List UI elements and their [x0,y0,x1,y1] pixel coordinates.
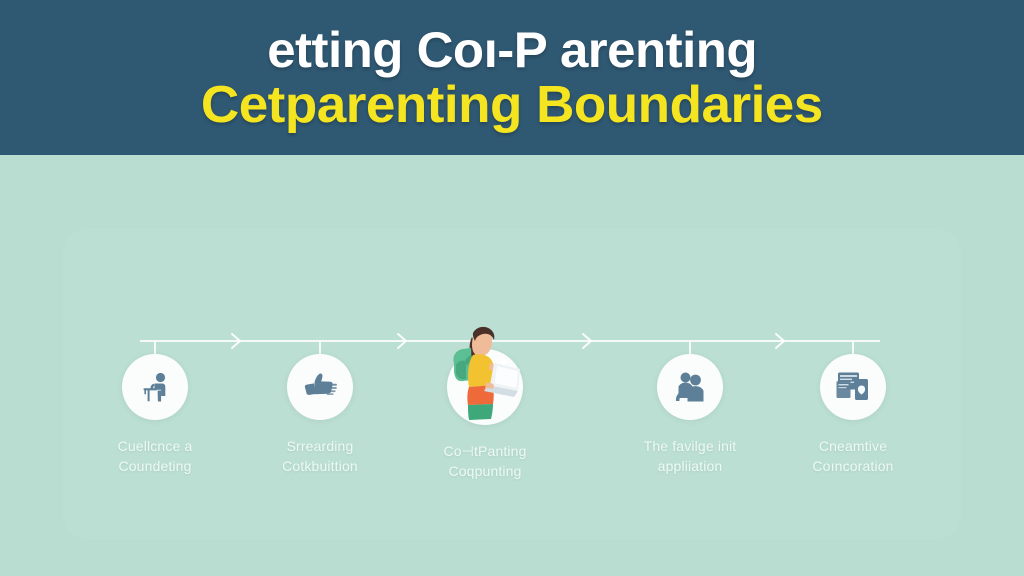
timeline-step-1-label-line-2: Coundeting [67,456,243,476]
timeline-step-3[interactable]: Co⊣tPanting Coqpunting [397,349,573,482]
timeline-step-1-label-line-1: Cuellcnce a [118,438,193,454]
timeline-step-4-circle[interactable] [657,354,723,420]
two-people-group-icon [670,368,710,406]
timeline-step-3-label: Co⊣tPanting Coqpunting [397,441,573,482]
timeline-step-2-label-line-2: Cotkbuittion [232,456,408,476]
timeline-step-5-circle[interactable] [820,354,886,420]
timeline-step-2-label-line-1: Srrearding [287,438,354,454]
timeline-step-5-label-line-2: Coıncoration [765,456,941,476]
timeline-step-3-label-line-1: Co⊣tPanting [443,443,526,459]
header-band: etting Coı-P arenting Cetparenting Bound… [0,0,1024,155]
header-title-line-1: etting Coı-P arenting [267,25,757,75]
timeline-step-4-label-line-1: The favilge init [644,438,737,454]
timeline-step-1[interactable]: Cuellcnce a Coundeting [67,354,243,477]
header-title-line-2: Cetparenting Boundaries [201,79,823,131]
timeline-step-4[interactable]: The favilge init appliiation [602,354,778,477]
timeline-step-4-label: The favilge init appliiation [602,436,778,477]
timeline-step-1-circle[interactable] [122,354,188,420]
woman-with-backpack-laptop-illustration [442,319,528,423]
hand-thumbs-up-icon [300,369,340,405]
timeline-step-4-label-line-2: appliiation [602,456,778,476]
timeline-step-2-circle[interactable] [287,354,353,420]
person-at-desk-icon [136,368,174,406]
timeline-step-2-label: Srrearding Cotkbuittion [232,436,408,477]
poster-canvas: etting Coı-P arenting Cetparenting Bound… [0,0,1024,576]
timeline-step-5[interactable]: Cneamtive Coıncoration [765,354,941,477]
timeline-step-5-label: Cneamtive Coıncoration [765,436,941,477]
documents-stack-icon [834,369,872,405]
header-text-block: etting Coı-P arenting Cetparenting Bound… [0,0,1024,155]
timeline-step-5-label-line-1: Cneamtive [819,438,887,454]
timeline-step-1-label: Cuellcnce a Coundeting [67,436,243,477]
timeline-step-2[interactable]: Srrearding Cotkbuittion [232,354,408,477]
timeline-step-3-label-line-2: Coqpunting [397,461,573,481]
timeline-step-3-circle[interactable] [447,349,523,425]
